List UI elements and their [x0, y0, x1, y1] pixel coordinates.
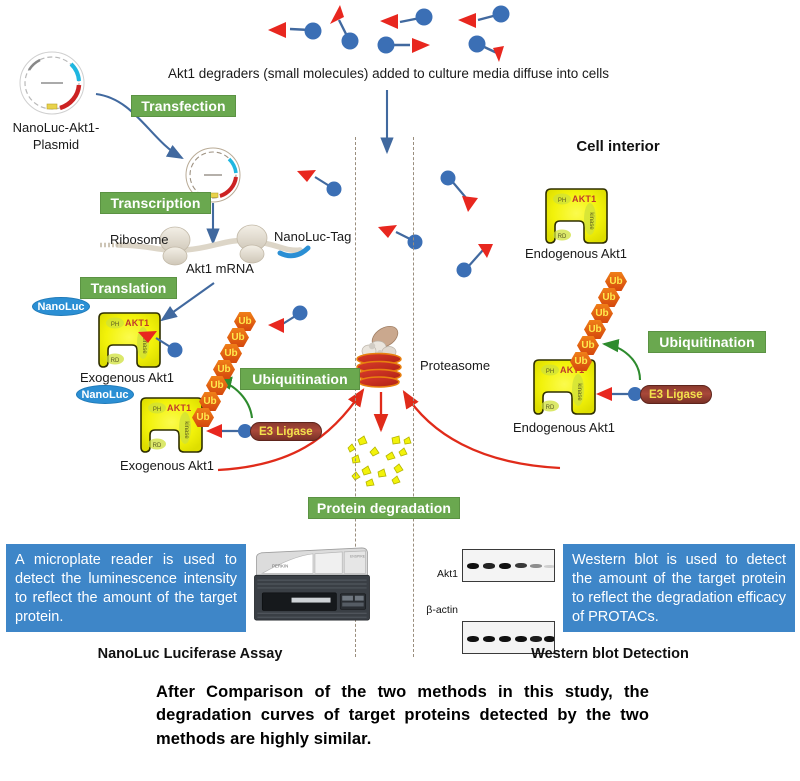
proteasome-icon — [357, 322, 402, 387]
plasmid-map-icon — [20, 52, 84, 114]
blot-band — [544, 565, 555, 568]
ubiquitin-chain-right: Ub Ub Ub Ub Ub Ub — [565, 272, 645, 368]
svg-text:PH: PH — [546, 369, 554, 375]
svg-text:kinase: kinase — [576, 383, 582, 401]
svg-text:PERKIN: PERKIN — [272, 563, 288, 568]
exogenous-akt1-caption-2: Exogenous Akt1 — [120, 458, 214, 473]
blot-band — [530, 636, 542, 642]
process-box-ubiquitination-right[interactable]: Ubiquitination — [648, 331, 766, 353]
svg-text:PH: PH — [558, 198, 566, 204]
svg-text:PH: PH — [111, 322, 119, 328]
blot-band — [530, 564, 542, 568]
blot-band — [544, 636, 555, 642]
blot-row-label-akt1: Akt1 — [410, 568, 458, 580]
top-caption: Akt1 degraders (small molecules) added t… — [168, 66, 609, 81]
blot-band — [483, 563, 495, 569]
e3-ligase-pill-left: E3 Ligase — [250, 422, 322, 441]
nanoluc-tag-bubble-2: NanoLuc — [76, 385, 134, 404]
microplate-reader-icon: PERKIN ENSPIRE — [252, 546, 372, 624]
cell-interior-label: Cell interior — [538, 138, 698, 155]
process-box-transcription[interactable]: Transcription — [100, 192, 211, 214]
svg-text:ENSPIRE: ENSPIRE — [350, 555, 366, 559]
nanoluc-assay-description: A microplate reader is used to detect th… — [6, 544, 246, 632]
process-box-protein-degradation[interactable]: Protein degradation — [308, 497, 460, 519]
western-blot-caption: Western blot Detection — [470, 646, 750, 662]
e3-ligase-pill-right: E3 Ligase — [640, 385, 712, 404]
blot-band — [467, 563, 479, 569]
plasmid-label-line1: NanoLuc-Akt1- — [13, 120, 100, 135]
blot-band — [467, 636, 479, 642]
akt1-name-label-3: AKT1 — [572, 194, 596, 204]
blot-band — [515, 563, 527, 568]
endogenous-akt1-caption-2: Endogenous Akt1 — [513, 420, 615, 435]
e3-ligase-connector-left — [206, 424, 252, 438]
svg-text:RD: RD — [546, 405, 555, 411]
blot-band — [499, 636, 511, 642]
svg-text:kinase: kinase — [183, 421, 189, 439]
ribosome-label: Ribosome — [110, 232, 169, 247]
process-box-transfection[interactable]: Transfection — [131, 95, 236, 117]
blot-panel-akt1 — [462, 549, 555, 582]
exogenous-akt1-caption-1: Exogenous Akt1 — [80, 370, 174, 385]
figure-canvas: PH RD kinase PH RD kinase PH RD kinase — [0, 0, 800, 781]
process-box-translation[interactable]: Translation — [80, 277, 177, 299]
svg-text:PH: PH — [153, 407, 161, 413]
blot-band — [499, 563, 511, 569]
akt1-name-label-1: AKT1 — [125, 318, 149, 328]
western-blot-description: Western blot is used to detect the amoun… — [563, 544, 795, 632]
e3-ligase-connector-right — [596, 387, 642, 401]
peptide-fragments — [348, 436, 411, 486]
nanoluc-tag-label: NanoLuc-Tag — [274, 229, 351, 244]
svg-text:RD: RD — [111, 358, 120, 364]
blot-band — [483, 636, 495, 642]
plasmid-label-line2: Plasmid — [33, 137, 79, 152]
nanoluc-assay-caption: NanoLuc Luciferase Assay — [50, 646, 330, 662]
akt1-name-label-2: AKT1 — [167, 403, 191, 413]
blot-row-label-actin: β-actin — [400, 604, 458, 616]
endogenous-akt1-caption-1: Endogenous Akt1 — [525, 246, 627, 261]
svg-text:kinase: kinase — [588, 212, 594, 230]
degrader-molecules-extracellular — [268, 5, 510, 62]
blot-band — [515, 636, 527, 642]
ubiquitin-chain-left: Ub Ub Ub Ub Ub Ub Ub — [190, 312, 270, 422]
ribosome-icon — [237, 225, 267, 263]
conclusion-text: After Comparison of the two methods in t… — [156, 681, 649, 751]
svg-text:RD: RD — [153, 443, 162, 449]
nanoluc-tag-bubble-1: NanoLuc — [32, 297, 90, 316]
svg-text:RD: RD — [558, 234, 567, 240]
proteasome-label: Proteasome — [420, 358, 490, 373]
plasmid-label: NanoLuc-Akt1- Plasmid — [2, 120, 110, 154]
mrna-label: Akt1 mRNA — [186, 261, 254, 276]
